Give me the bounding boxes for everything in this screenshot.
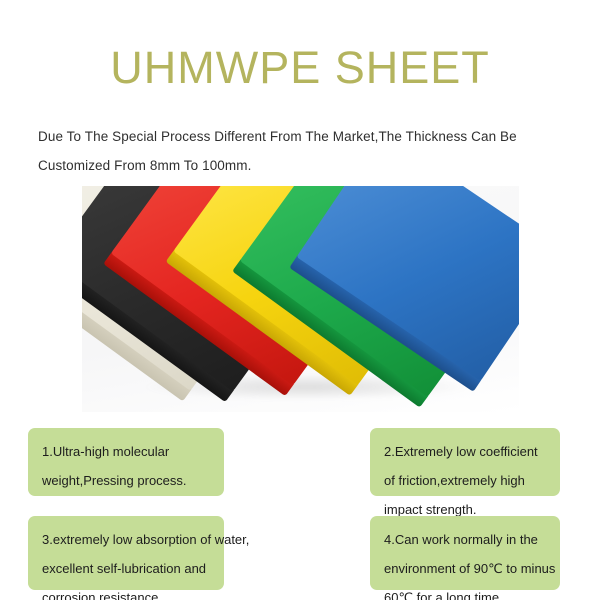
feature-2-line-2: of friction,extremely high [384, 466, 538, 495]
feature-1-line-2: weight,Pressing process. [42, 466, 187, 495]
subtitle-line-2: Customized From 8mm To 100mm. [38, 151, 584, 180]
feature-4-line-1: 4.Can work normally in the [384, 525, 555, 554]
feature-4-line-3: 60℃ for a long time. [384, 583, 555, 600]
feature-4-text: 4.Can work normally in the environment o… [384, 525, 555, 600]
subtitle-text: Due To The Special Process Different Fro… [38, 122, 584, 180]
product-photo: UHMW [82, 186, 519, 412]
feature-1-line-1: 1.Ultra-high molecular [42, 437, 187, 466]
feature-3-line-3: corrosion resistance. [42, 583, 249, 600]
subtitle-line-1: Due To The Special Process Different Fro… [38, 122, 584, 151]
feature-box-2: 2.Extremely low coefficient of friction,… [370, 428, 560, 496]
feature-3-text: 3.extremely low absorption of water, exc… [42, 525, 249, 600]
product-banner: UHMWPE SHEET Due To The Special Process … [0, 0, 600, 600]
feature-1-text: 1.Ultra-high molecular weight,Pressing p… [42, 437, 187, 495]
feature-2-line-1: 2.Extremely low coefficient [384, 437, 538, 466]
feature-4-line-2: environment of 90℃ to minus [384, 554, 555, 583]
feature-box-4: 4.Can work normally in the environment o… [370, 516, 560, 590]
feature-3-line-1: 3.extremely low absorption of water, [42, 525, 249, 554]
feature-box-3: 3.extremely low absorption of water, exc… [28, 516, 224, 590]
page-title: UHMWPE SHEET [0, 44, 600, 91]
feature-3-line-2: excellent self-lubrication and [42, 554, 249, 583]
feature-2-text: 2.Extremely low coefficient of friction,… [384, 437, 538, 524]
feature-box-1: 1.Ultra-high molecular weight,Pressing p… [28, 428, 224, 496]
